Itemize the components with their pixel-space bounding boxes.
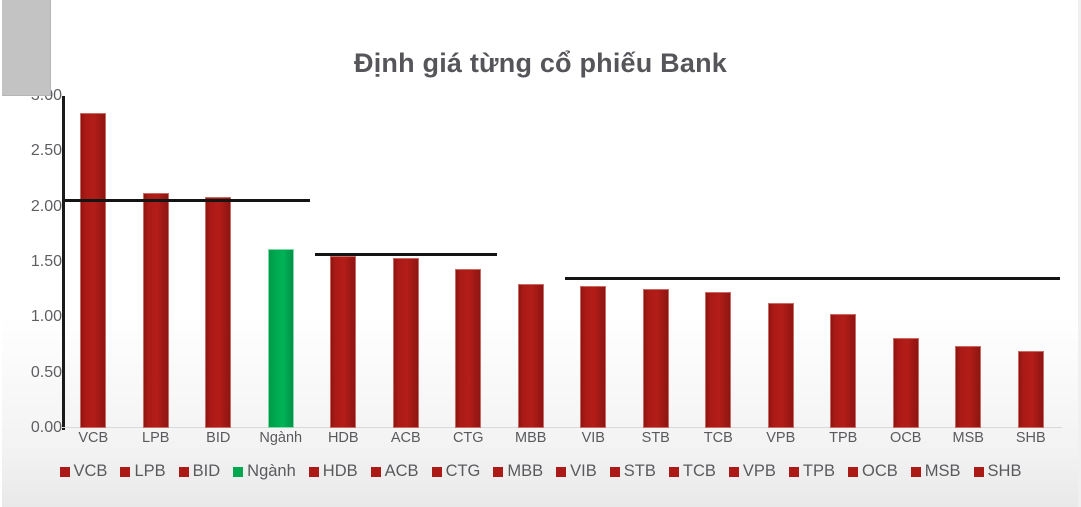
legend-item-label: MSB xyxy=(925,462,961,481)
reference-line-group-2 xyxy=(315,253,498,256)
legend-item-label: LPB xyxy=(134,462,165,481)
bar-slot xyxy=(187,96,250,428)
x-axis-tick-label: TCB xyxy=(704,430,733,446)
chart-canvas: Định giá từng cổ phiếu Bank 0.000.501.00… xyxy=(0,0,1081,507)
x-axis-tick-label: MBB xyxy=(515,430,546,446)
bar-slot xyxy=(562,96,625,428)
legend-item-tpb[interactable]: TPB xyxy=(789,462,835,481)
bar-ocb[interactable] xyxy=(893,338,919,428)
x-axis-tick-label: VPB xyxy=(766,430,795,446)
legend-item-vpb[interactable]: VPB xyxy=(729,462,776,481)
legend-item-label: TCB xyxy=(683,462,716,481)
legend-swatch-icon xyxy=(120,467,130,477)
x-axis-tick-label: HDB xyxy=(328,430,359,446)
y-axis-tick-label: 2.50 xyxy=(6,142,62,160)
bar-msb[interactable] xyxy=(955,346,981,428)
legend-swatch-icon xyxy=(233,467,243,477)
legend-swatch-icon xyxy=(432,467,442,477)
bar-slot xyxy=(437,96,500,428)
legend-item-vcb[interactable]: VCB xyxy=(60,462,108,481)
legend-item-vib[interactable]: VIB xyxy=(556,462,597,481)
bar-mbb[interactable] xyxy=(518,284,544,428)
bar-slot xyxy=(250,96,313,428)
bar-acb[interactable] xyxy=(393,258,419,428)
legend-swatch-icon xyxy=(556,467,566,477)
bar-slot xyxy=(937,96,1000,428)
bar-vpb[interactable] xyxy=(768,303,794,428)
y-axis-tick-label: 1.00 xyxy=(6,308,62,326)
chart-legend: VCBLPBBIDNgànhHDBACBCTGMBBVIBSTBTCBVPBTP… xyxy=(0,462,1081,481)
legend-item-label: SHB xyxy=(988,462,1022,481)
bar-series xyxy=(62,96,1062,428)
x-axis-tick-label: VIB xyxy=(582,430,605,446)
x-axis-tick-label: Ngành xyxy=(259,430,302,446)
x-axis-tick-labels: VCBLPBBIDNgànhHDBACBCTGMBBVIBSTBTCBVPBTP… xyxy=(62,430,1062,452)
x-axis-tick-label: STB xyxy=(642,430,670,446)
bar-slot xyxy=(875,96,938,428)
bar-stb[interactable] xyxy=(643,289,669,428)
bar-slot xyxy=(312,96,375,428)
legend-item-label: OCB xyxy=(862,462,898,481)
bar-vib[interactable] xyxy=(580,286,606,428)
x-axis-tick-label: ACB xyxy=(391,430,421,446)
y-axis-tick-label: 1.50 xyxy=(6,253,62,271)
legend-item-tcb[interactable]: TCB xyxy=(669,462,716,481)
legend-item-ctg[interactable]: CTG xyxy=(432,462,481,481)
legend-swatch-icon xyxy=(848,467,858,477)
bar-lpb[interactable] xyxy=(143,193,169,428)
legend-swatch-icon xyxy=(911,467,921,477)
x-axis-tick-label: LPB xyxy=(142,430,169,446)
bar-shb[interactable] xyxy=(1018,351,1044,428)
bar-slot xyxy=(625,96,688,428)
reference-line-group-1 xyxy=(65,199,310,202)
legend-item-ocb[interactable]: OCB xyxy=(848,462,898,481)
legend-item-bid[interactable]: BID xyxy=(179,462,221,481)
legend-swatch-icon xyxy=(371,467,381,477)
x-axis-tick-label: MSB xyxy=(953,430,984,446)
bar-bid[interactable] xyxy=(205,197,231,428)
y-axis-tick-label: 0.00 xyxy=(6,419,62,437)
legend-item-shb[interactable]: SHB xyxy=(974,462,1022,481)
left-edge-strip xyxy=(0,0,2,507)
x-axis-tick-label: SHB xyxy=(1016,430,1046,446)
x-axis-tick-label: TPB xyxy=(829,430,857,446)
legend-swatch-icon xyxy=(789,467,799,477)
bar-tpb[interactable] xyxy=(830,314,856,428)
bar-ctg[interactable] xyxy=(455,269,481,428)
legend-item-label: MBB xyxy=(507,462,543,481)
legend-item-acb[interactable]: ACB xyxy=(371,462,419,481)
y-axis-tick-label: 0.50 xyxy=(6,364,62,382)
legend-swatch-icon xyxy=(610,467,620,477)
bar-slot xyxy=(750,96,813,428)
legend-item-label: STB xyxy=(624,462,656,481)
reference-line-group-3 xyxy=(565,277,1060,280)
bar-slot xyxy=(125,96,188,428)
legend-item-label: CTG xyxy=(446,462,481,481)
bar-slot xyxy=(500,96,563,428)
legend-swatch-icon xyxy=(60,467,70,477)
legend-item-msb[interactable]: MSB xyxy=(911,462,961,481)
legend-item-label: VIB xyxy=(570,462,597,481)
bar-slot xyxy=(62,96,125,428)
legend-swatch-icon xyxy=(493,467,503,477)
bar-slot xyxy=(687,96,750,428)
overlay-panel xyxy=(0,0,51,96)
legend-item-stb[interactable]: STB xyxy=(610,462,656,481)
legend-item-mbb[interactable]: MBB xyxy=(493,462,543,481)
legend-item-ngành[interactable]: Ngành xyxy=(233,462,296,481)
legend-swatch-icon xyxy=(974,467,984,477)
x-axis-tick-label: CTG xyxy=(453,430,484,446)
x-axis-tick-label: OCB xyxy=(890,430,921,446)
bar-hdb[interactable] xyxy=(330,256,356,428)
bar-slot xyxy=(812,96,875,428)
bar-vcb[interactable] xyxy=(80,113,106,428)
legend-item-label: HDB xyxy=(323,462,358,481)
chart-title: Định giá từng cổ phiếu Bank xyxy=(0,48,1081,79)
bar-ngành[interactable] xyxy=(268,249,294,428)
y-axis-tick-label: 2.00 xyxy=(6,198,62,216)
legend-item-hdb[interactable]: HDB xyxy=(309,462,358,481)
legend-swatch-icon xyxy=(729,467,739,477)
legend-item-label: VPB xyxy=(743,462,776,481)
legend-item-label: ACB xyxy=(385,462,419,481)
legend-swatch-icon xyxy=(179,467,189,477)
legend-item-lpb[interactable]: LPB xyxy=(120,462,165,481)
legend-item-label: BID xyxy=(193,462,221,481)
bar-tcb[interactable] xyxy=(705,292,731,428)
legend-item-label: TPB xyxy=(803,462,835,481)
legend-item-label: Ngành xyxy=(247,462,296,481)
legend-swatch-icon xyxy=(309,467,319,477)
x-axis-tick-label: VCB xyxy=(78,430,108,446)
bar-slot xyxy=(375,96,438,428)
legend-swatch-icon xyxy=(669,467,679,477)
plot-area: 0.000.501.001.502.002.503.00 xyxy=(62,96,1062,428)
x-axis-tick-label: BID xyxy=(206,430,230,446)
bar-slot xyxy=(1000,96,1063,428)
legend-item-label: VCB xyxy=(74,462,108,481)
